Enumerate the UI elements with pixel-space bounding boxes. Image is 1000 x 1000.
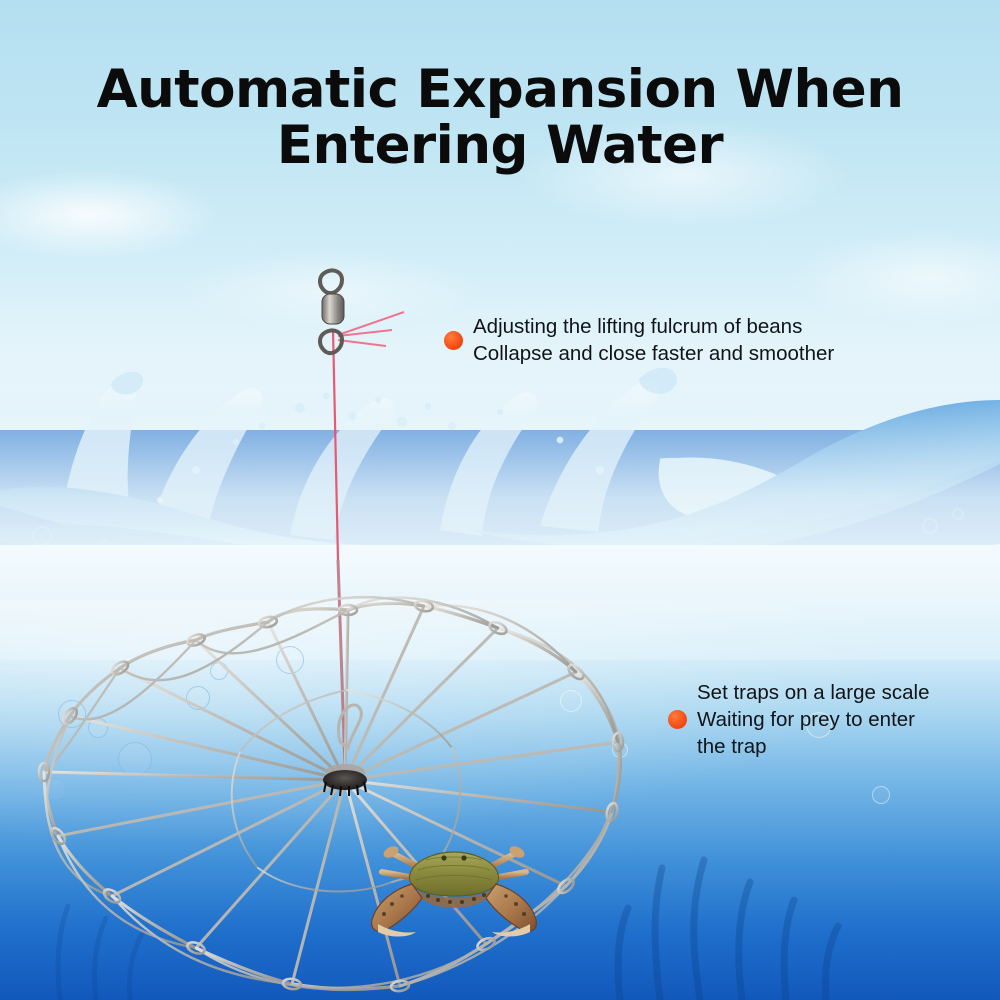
callout-2-line-1: Set traps on a large scale (697, 679, 929, 706)
callout-2-line-2: Waiting for prey to enter (697, 706, 929, 733)
bubble (88, 718, 108, 738)
callout-2-text: Set traps on a large scale Waiting for p… (697, 679, 929, 760)
callout-1-text: Adjusting the lifting fulcrum of beans C… (473, 313, 834, 367)
callout-feature-1: Adjusting the lifting fulcrum of beans C… (444, 313, 834, 367)
title-line-1: Automatic Expansion When (97, 59, 904, 120)
bubble (210, 662, 228, 680)
bubble (118, 742, 152, 776)
bubble (872, 786, 890, 804)
crab (358, 838, 550, 938)
callout-feature-2: Set traps on a large scale Waiting for p… (668, 679, 929, 760)
product-marketing-image: Automatic Expansion When Entering Water (0, 0, 1000, 1000)
callout-1-line-2: Collapse and close faster and smoother (473, 340, 834, 367)
bubble (44, 778, 66, 800)
page-title: Automatic Expansion When Entering Water (0, 62, 1000, 174)
bubble (276, 646, 304, 674)
bullet-dot-icon (444, 331, 463, 350)
bubble (612, 742, 628, 758)
callout-2-line-3: the trap (697, 733, 929, 760)
bubble (186, 686, 210, 710)
callout-1-line-1: Adjusting the lifting fulcrum of beans (473, 313, 834, 340)
bubble (58, 700, 86, 728)
title-line-2: Entering Water (0, 118, 1000, 174)
bubble (560, 690, 582, 712)
bullet-dot-icon (668, 710, 687, 729)
